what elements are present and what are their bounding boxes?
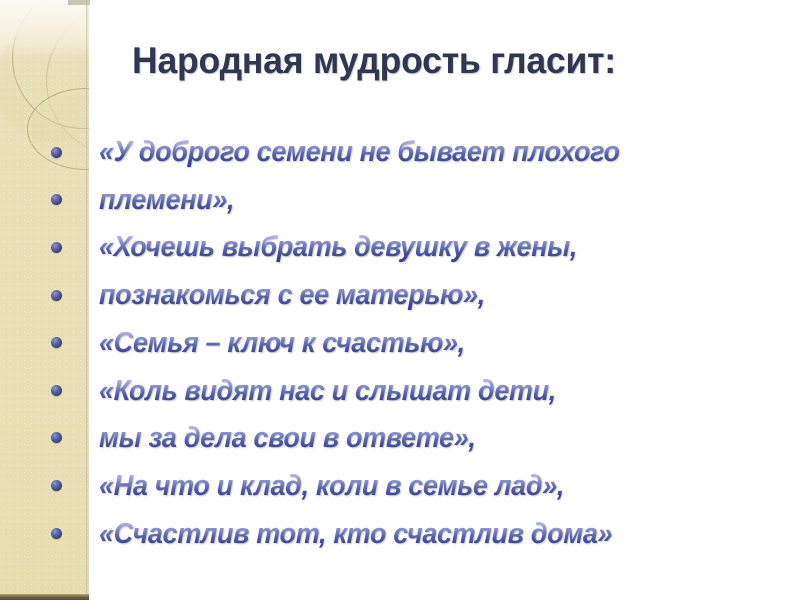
quote-line: познакомься с ее матерью», <box>99 279 485 312</box>
quote-list: «У доброго семени не бывает плохогоплеме… <box>0 0 800 600</box>
slide-canvas: Народная мудрость гласит: «У доброго сем… <box>0 0 800 600</box>
quote-line: «Хочешь выбрать девушку в жены, <box>99 231 577 264</box>
quote-line: «Счастлив тот, кто счастлив дома» <box>99 518 612 551</box>
quote-line: «Семья – ключ к счастью», <box>99 327 465 360</box>
quote-line: «Коль видят нас и слышат дети, <box>99 375 556 408</box>
quote-line: племени», <box>99 184 234 217</box>
quote-line: «На что и клад, коли в семье лад», <box>99 470 564 503</box>
quote-line: «У доброго семени не бывает плохого <box>99 136 620 169</box>
quote-line: мы за дела свои в ответе», <box>99 422 476 455</box>
